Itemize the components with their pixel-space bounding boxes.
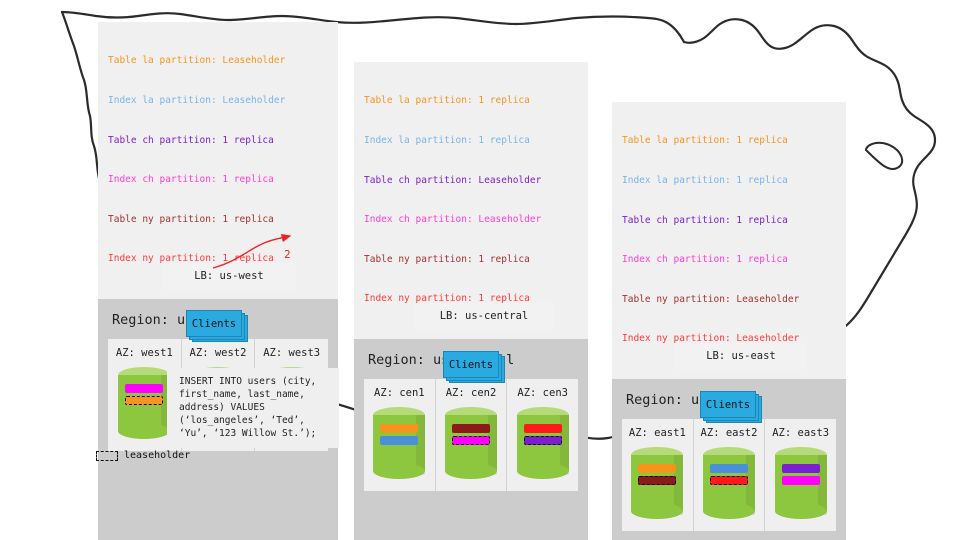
az-label: AZ: east3: [772, 427, 829, 439]
clients-us-east[interactable]: Clients: [700, 391, 762, 423]
region-cluster-us-central: Table la partition: 1 replica Index la p…: [354, 62, 588, 540]
partition-line: Table la partition: 1 replica: [622, 134, 836, 147]
az-cen1[interactable]: AZ: cen1: [364, 379, 436, 491]
replica-stack: [125, 384, 163, 408]
sql-statement: INSERT INTO users (city, first_name, las…: [167, 368, 339, 448]
az-row-us-central: AZ: cen1 AZ: cen2: [364, 379, 578, 491]
replica-la-index: [710, 464, 748, 473]
partition-line: Index la partition: 1 replica: [364, 134, 578, 147]
replica-stack: [638, 464, 676, 488]
replica-ch-index: [782, 476, 820, 485]
az-east3[interactable]: AZ: east3: [765, 419, 836, 531]
replica-ny-index-leaseholder: [524, 436, 562, 445]
db-node-cen2[interactable]: [445, 407, 497, 479]
az-label: AZ: west1: [116, 347, 173, 359]
partition-line: Index ch partition: 1 replica: [622, 253, 836, 266]
db-node-east1[interactable]: [631, 447, 683, 519]
partition-line: Index ch partition: Leaseholder: [364, 213, 578, 226]
partition-line: Table ch partition: 1 replica: [108, 134, 328, 147]
replica-stack: [452, 424, 490, 448]
partition-line: Table ny partition: Leaseholder: [622, 293, 836, 306]
replica-stack: [524, 424, 562, 448]
replica-stack: [710, 464, 748, 488]
annotation-number: 2: [284, 248, 291, 261]
cylinder-bottom: [775, 503, 827, 519]
db-node-east3[interactable]: [775, 447, 827, 519]
clients-button[interactable]: Clients: [443, 351, 499, 378]
az-label: AZ: cen3: [517, 387, 568, 399]
replica-ch-table: [524, 424, 562, 433]
az-cen3[interactable]: AZ: cen3: [507, 379, 578, 491]
replica-ch-table: [782, 464, 820, 473]
replica-ch-index-leaseholder: [452, 436, 490, 445]
cylinder-bottom: [703, 503, 755, 519]
cylinder-bottom: [373, 463, 425, 479]
replica-ny-table-leaseholder: [638, 476, 676, 485]
replica-la-table: [380, 424, 418, 433]
partition-line: Table la partition: Leaseholder: [108, 54, 328, 67]
az-label: AZ: cen1: [374, 387, 425, 399]
db-node-cen1[interactable]: [373, 407, 425, 479]
partition-line: Index ch partition: 1 replica: [108, 173, 328, 186]
clients-us-central[interactable]: Clients: [443, 351, 505, 383]
partition-info-us-west: Table la partition: Leaseholder Index la…: [98, 22, 338, 299]
cylinder-bottom: [445, 463, 497, 479]
replica-stack: [782, 464, 820, 488]
az-label: AZ: west2: [190, 347, 247, 359]
az-east1[interactable]: AZ: east1: [622, 419, 694, 531]
replica-ny-table: [452, 424, 490, 433]
partition-line: Index la partition: 1 replica: [622, 174, 836, 187]
db-node-west1[interactable]: [118, 367, 170, 439]
az-label: AZ: east2: [701, 427, 758, 439]
db-node-cen3[interactable]: [517, 407, 569, 479]
clients-button[interactable]: Clients: [186, 310, 242, 337]
az-label: AZ: west3: [263, 347, 320, 359]
partition-line: Table ny partition: 1 replica: [364, 253, 578, 266]
cylinder-bottom: [517, 463, 569, 479]
replica-la-table: [638, 464, 676, 473]
partition-line: Index la partition: Leaseholder: [108, 94, 328, 107]
partition-line: Table ny partition: 1 replica: [108, 213, 328, 226]
replica-la-index: [380, 436, 418, 445]
az-east2[interactable]: AZ: east2: [694, 419, 766, 531]
replica-ny-index-leaseholder: [710, 476, 748, 485]
clients-button[interactable]: Clients: [700, 391, 756, 418]
partition-line: Table la partition: 1 replica: [364, 94, 578, 107]
partition-line: Table ch partition: Leaseholder: [364, 174, 578, 187]
diagram-canvas: Table la partition: Leaseholder Index la…: [0, 0, 960, 540]
clients-us-west[interactable]: Clients: [186, 310, 248, 342]
az-row-us-east: AZ: east1 AZ: east2: [622, 419, 836, 531]
replica-la-table-leaseholder: [125, 396, 163, 405]
dashed-rect-icon: [96, 451, 118, 461]
legend-label: leaseholder: [124, 450, 190, 461]
partition-info-us-central: Table la partition: 1 replica Index la p…: [354, 62, 588, 339]
cylinder-bottom: [118, 423, 170, 439]
cylinder-bottom: [631, 503, 683, 519]
replica-ch-index: [125, 384, 163, 393]
load-balancer-us-west[interactable]: LB: us-west: [162, 263, 296, 289]
partition-line: Table ch partition: 1 replica: [622, 214, 836, 227]
az-cen2[interactable]: AZ: cen2: [436, 379, 508, 491]
load-balancer-us-east[interactable]: LB: us-east: [675, 343, 807, 369]
region-cluster-us-east: Table la partition: 1 replica Index la p…: [612, 102, 846, 540]
db-node-east2[interactable]: [703, 447, 755, 519]
replica-stack: [380, 424, 418, 448]
load-balancer-us-central[interactable]: LB: us-central: [415, 303, 553, 329]
legend: leaseholder: [96, 450, 190, 461]
az-label: AZ: east1: [629, 427, 686, 439]
az-label: AZ: cen2: [446, 387, 497, 399]
partition-info-us-east: Table la partition: 1 replica Index la p…: [612, 102, 846, 379]
